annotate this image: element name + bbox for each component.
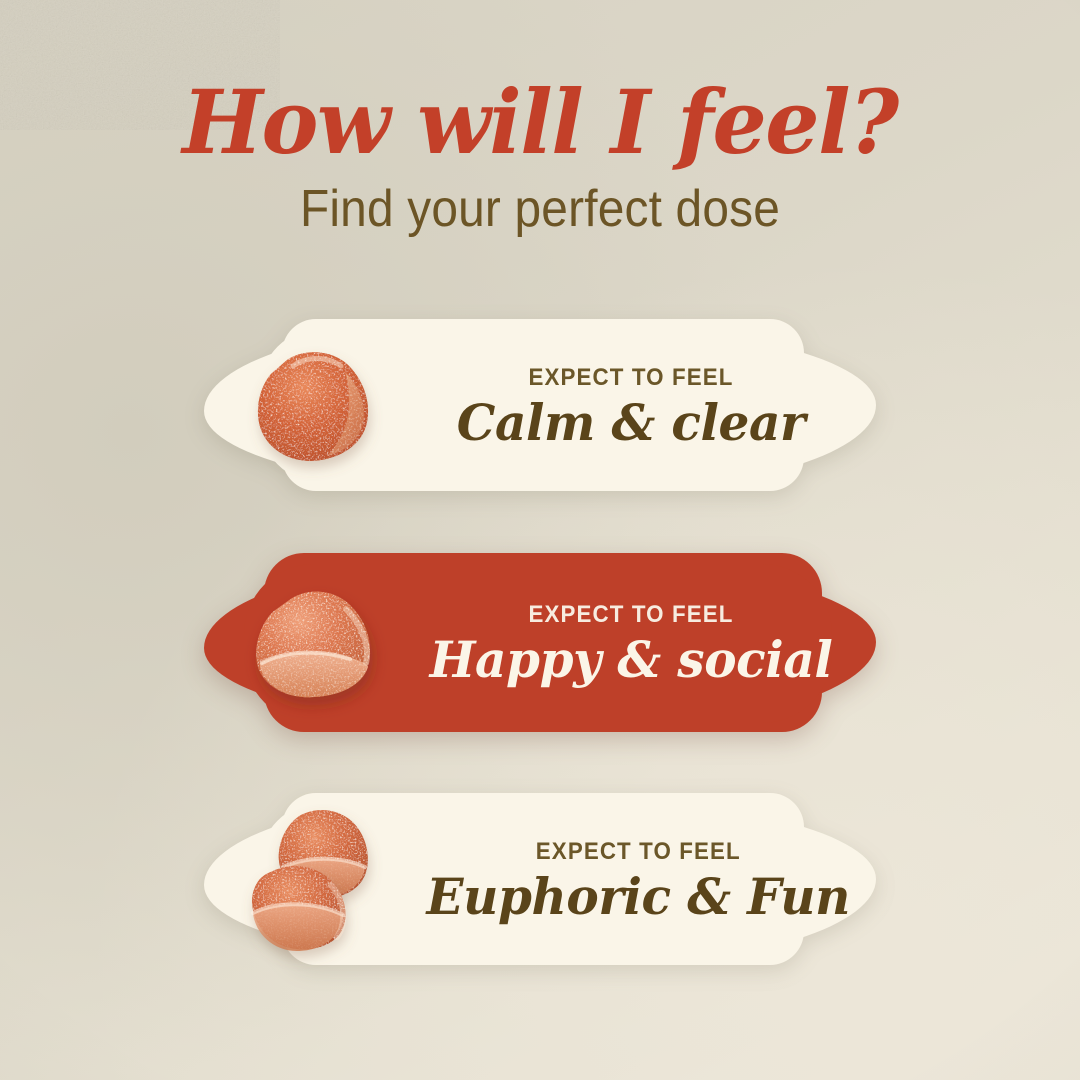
card-copy: EXPECT TO FEEL Happy & social <box>420 601 870 687</box>
dose-card-calm[interactable]: EXPECT TO FEEL Calm & clear <box>210 325 870 488</box>
gummy-image-calm <box>210 325 420 488</box>
single-gummy-dome-icon <box>248 583 382 705</box>
page-subtitle: Find your perfect dose <box>43 182 1037 237</box>
double-gummy-icon <box>239 805 391 957</box>
gummy-image-happy <box>210 562 420 725</box>
card-feeling-label: Happy & social <box>426 633 835 687</box>
card-eyebrow: EXPECT TO FEEL <box>435 364 827 392</box>
dose-card-euphoric[interactable]: EXPECT TO FEEL Euphoric & Fun <box>210 799 870 962</box>
gummy-image-euphoric <box>210 799 420 962</box>
page-title: How will I feel? <box>16 78 1064 166</box>
card-copy: EXPECT TO FEEL Calm & clear <box>420 364 870 450</box>
poster-header: How will I feel? Find your perfect dose <box>0 78 1080 237</box>
card-feeling-label: Calm & clear <box>426 396 835 450</box>
dose-card-happy[interactable]: EXPECT TO FEEL Happy & social <box>210 562 870 725</box>
card-eyebrow: EXPECT TO FEEL <box>435 838 841 866</box>
card-copy: EXPECT TO FEEL Euphoric & Fun <box>420 838 885 924</box>
card-eyebrow: EXPECT TO FEEL <box>435 601 827 629</box>
dose-card-list: EXPECT TO FEEL Calm & clear <box>0 325 1080 962</box>
single-gummy-icon <box>249 344 381 470</box>
card-feeling-label: Euphoric & Fun <box>427 870 850 924</box>
poster-canvas: How will I feel? Find your perfect dose <box>0 0 1080 1080</box>
